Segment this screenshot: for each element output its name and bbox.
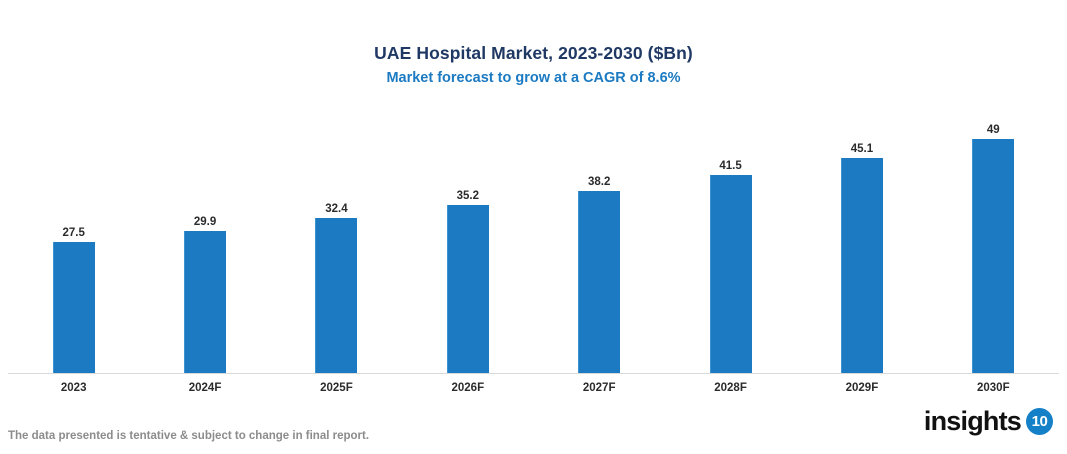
- logo-badge-icon: 10: [1026, 408, 1053, 435]
- bar-value-label: 41.5: [719, 160, 741, 172]
- x-axis-labels: 2023 2024F 2025F 2026F 2027F 2028F 2029F…: [8, 378, 1059, 396]
- bar-group-2026F[interactable]: 35.2: [402, 110, 533, 374]
- bar-group-2027F[interactable]: 38.2: [534, 110, 665, 374]
- plot-area: 27.5 29.9 32.4 35.2 38.2 41.5: [8, 110, 1059, 374]
- x-tick-label: 2023: [61, 382, 87, 394]
- bar-group-2030F[interactable]: 49: [928, 110, 1059, 374]
- x-tick-label: 2025F: [320, 382, 353, 394]
- x-tick-label: 2029F: [846, 382, 879, 394]
- bar-rect[interactable]: [710, 175, 752, 374]
- x-tick-2026F: 2026F: [402, 378, 533, 396]
- bar-value-label: 29.9: [194, 216, 216, 228]
- x-tick-label: 2027F: [583, 382, 616, 394]
- x-tick-label: 2030F: [977, 382, 1010, 394]
- x-tick-2027F: 2027F: [534, 378, 665, 396]
- insights10-logo: insights 10: [924, 406, 1053, 436]
- x-tick-2030F: 2030F: [928, 378, 1059, 396]
- bar-rect[interactable]: [184, 231, 226, 374]
- x-tick-label: 2028F: [714, 382, 747, 394]
- page-title: UAE Hospital Market, 2023-2030 ($Bn): [0, 42, 1067, 64]
- x-tick-2029F: 2029F: [796, 378, 927, 396]
- title-block: UAE Hospital Market, 2023-2030 ($Bn) Mar…: [0, 42, 1067, 88]
- bar-group-2028F[interactable]: 41.5: [665, 110, 796, 374]
- bar-rect[interactable]: [447, 205, 489, 374]
- x-axis-line: [8, 373, 1059, 374]
- bar-value-label: 49: [987, 124, 1000, 136]
- bar-value-label: 35.2: [457, 190, 479, 202]
- bar-value-label: 27.5: [62, 227, 84, 239]
- bar-group-2025F[interactable]: 32.4: [271, 110, 402, 374]
- x-tick-2028F: 2028F: [665, 378, 796, 396]
- bar-group-2029F[interactable]: 45.1: [796, 110, 927, 374]
- bar-value-label: 32.4: [325, 203, 347, 215]
- chart-subtitle: Market forecast to grow at a CAGR of 8.6…: [0, 69, 1067, 88]
- bar-series: 27.5 29.9 32.4 35.2 38.2 41.5: [8, 110, 1059, 374]
- x-tick-2024F: 2024F: [139, 378, 270, 396]
- bar-value-label: 38.2: [588, 176, 610, 188]
- bar-rect[interactable]: [315, 218, 357, 374]
- bar-rect[interactable]: [53, 242, 95, 374]
- bar-group-2023[interactable]: 27.5: [8, 110, 139, 374]
- x-tick-label: 2026F: [452, 382, 485, 394]
- bar-group-2024F[interactable]: 29.9: [139, 110, 270, 374]
- bar-value-label: 45.1: [851, 143, 873, 155]
- x-tick-2023: 2023: [8, 378, 139, 396]
- logo-wordmark: insights: [924, 406, 1021, 436]
- x-tick-2025F: 2025F: [271, 378, 402, 396]
- disclaimer-text: The data presented is tentative & subjec…: [8, 429, 369, 443]
- chart-page: UAE Hospital Market, 2023-2030 ($Bn) Mar…: [0, 0, 1067, 454]
- bar-rect[interactable]: [972, 139, 1014, 374]
- bar-rect[interactable]: [578, 191, 620, 374]
- bar-rect[interactable]: [841, 158, 883, 374]
- x-tick-label: 2024F: [189, 382, 222, 394]
